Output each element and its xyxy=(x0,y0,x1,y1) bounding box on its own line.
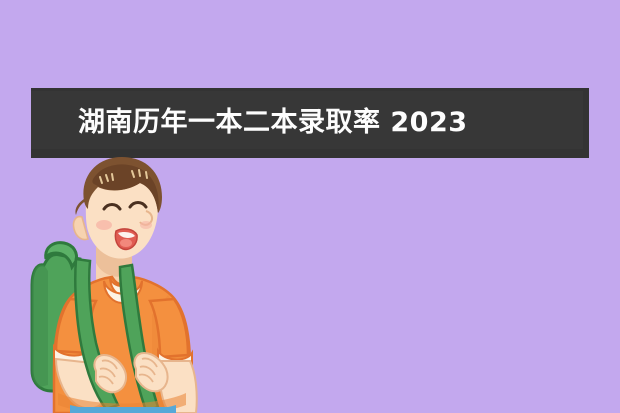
head xyxy=(73,157,162,259)
image-canvas: 湖南历年一本二本录取率 2023 xyxy=(0,0,620,413)
title-banner: 湖南历年一本二本录取率 2023 xyxy=(31,88,589,158)
page-title: 湖南历年一本二本录取率 2023 xyxy=(31,88,468,158)
student-illustration xyxy=(0,155,300,413)
